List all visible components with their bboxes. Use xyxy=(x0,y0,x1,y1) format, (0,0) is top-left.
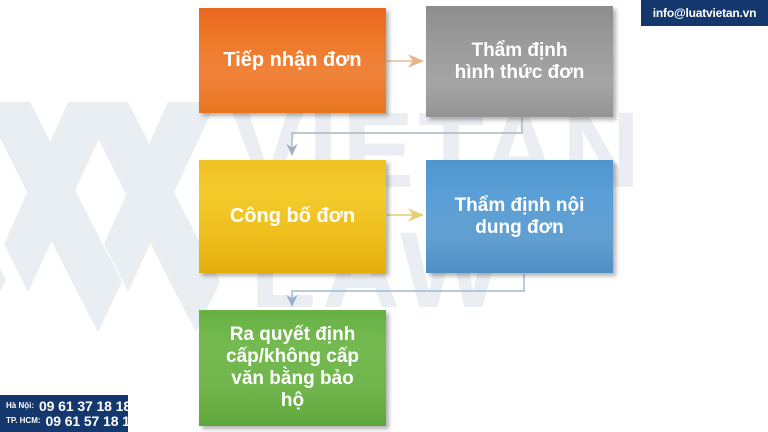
email-text: info@luatvietan.vn xyxy=(653,6,756,20)
contact-city-label: TP. HCM: xyxy=(6,416,46,425)
flow-node-label: Công bố đơn xyxy=(207,205,378,228)
contact-phone-number: 09 61 57 18 18 xyxy=(46,413,138,429)
email-badge[interactable]: info@luatvietan.vn xyxy=(641,0,768,26)
flow-node-cong-bo-don[interactable]: Công bố đơn xyxy=(199,160,386,273)
contact-badge[interactable]: Hà Nội: 09 61 37 18 18 TP. HCM: 09 61 57… xyxy=(0,395,128,432)
contact-city-label: Hà Nội: xyxy=(6,401,39,410)
connector-formal-to-publish xyxy=(292,118,522,155)
flow-node-tham-dinh-hinh-thuc-don[interactable]: Thẩm địnhhình thức đơn xyxy=(426,6,613,117)
flow-node-label: Thẩm định nộidung đơn xyxy=(434,195,605,239)
diagram-canvas: VIETAN LAW Tiếp nhận đơn xyxy=(0,0,768,432)
flow-node-tiep-nhan-don[interactable]: Tiếp nhận đơn xyxy=(199,8,386,113)
flow-node-label: Ra quyết địnhcấp/không cấpvăn bằng bảohộ xyxy=(207,324,378,411)
connector-content-to-decision xyxy=(292,274,524,306)
contact-row: Hà Nội: 09 61 37 18 18 xyxy=(6,398,123,413)
flow-node-label: Tiếp nhận đơn xyxy=(207,49,378,72)
contact-phone-number: 09 61 37 18 18 xyxy=(39,398,131,414)
contact-row: TP. HCM: 09 61 57 18 18 xyxy=(6,413,123,428)
flow-node-tham-dinh-noi-dung-don[interactable]: Thẩm định nộidung đơn xyxy=(426,160,613,273)
flow-node-label: Thẩm địnhhình thức đơn xyxy=(434,40,605,84)
flow-node-ra-quyet-dinh[interactable]: Ra quyết địnhcấp/không cấpvăn bằng bảohộ xyxy=(199,310,386,426)
